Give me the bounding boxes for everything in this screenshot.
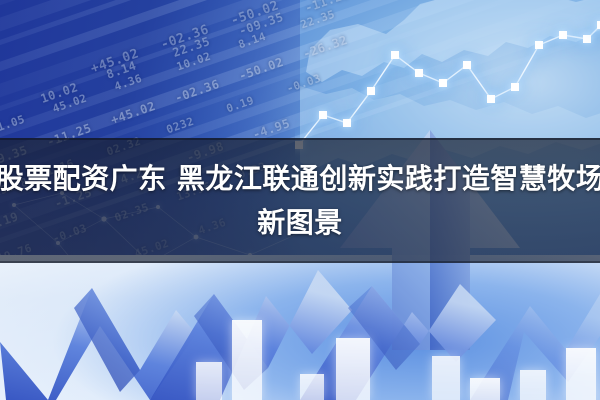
ticker-number: -0.03 <box>285 72 323 96</box>
banner-title-line-2: 新图景 <box>257 201 343 245</box>
bar <box>196 362 222 400</box>
bar <box>336 338 370 400</box>
article-banner-image: 21.0545.024.3610.028.1422.35-09.35-11.25… <box>0 0 600 400</box>
white-bar-chart <box>0 250 600 400</box>
banner-title-line-1: 股票配资广东 黑龙江联通创新实践打造智慧牧场 <box>0 157 600 201</box>
bar <box>232 320 262 400</box>
bar <box>300 374 324 400</box>
ticker-number: -02.36 <box>173 77 221 105</box>
bar <box>520 370 546 400</box>
ticker-number: -50.02 <box>237 55 285 83</box>
bar <box>470 378 500 400</box>
bar <box>432 356 460 400</box>
ticker-number: 0.19 <box>225 94 256 116</box>
ticker-number: -26.32 <box>301 33 349 61</box>
bar <box>566 348 596 400</box>
banner-title: 股票配资广东 黑龙江联通创新实践打造智慧牧场 新图景 <box>0 138 600 263</box>
